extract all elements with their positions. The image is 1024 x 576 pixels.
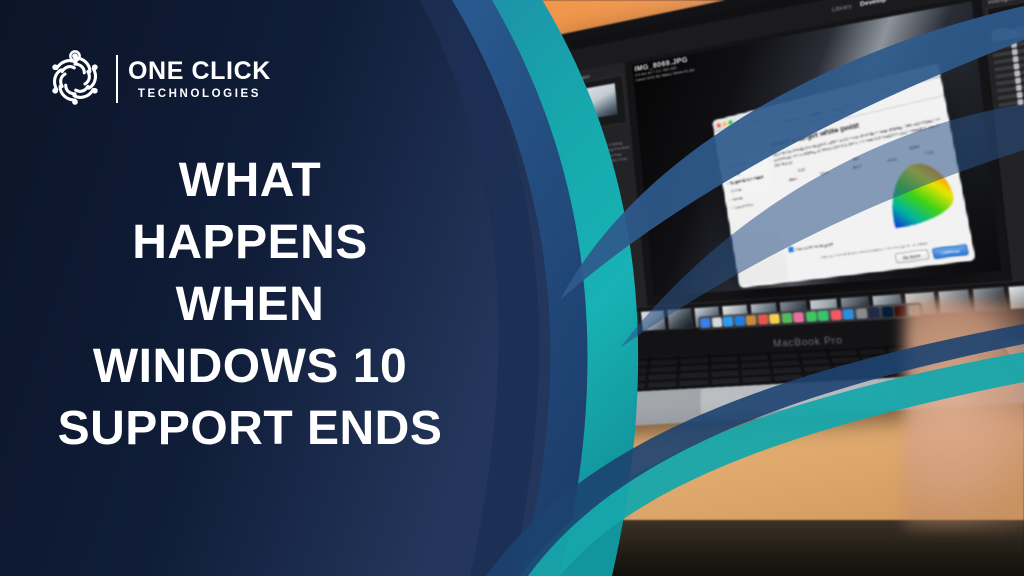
brand-name: ONE CLICK	[128, 58, 271, 84]
headline-line-5: SUPPORT ENDS	[50, 398, 450, 460]
headline-line-2: HAPPENS	[50, 212, 450, 274]
brand-lockup: ONE CLICK TECHNOLOGIES	[44, 48, 271, 110]
brand-text-block: ONE CLICK TECHNOLOGIES	[128, 58, 271, 99]
brand-divider-rule	[116, 55, 118, 103]
page-title: WHAT HAPPENS WHEN WINDOWS 10 SUPPORT END…	[50, 150, 450, 460]
headline-line-3: WHEN	[50, 274, 450, 336]
headline-line-4: WINDOWS 10	[50, 336, 450, 398]
hexagon-circuit-nodes-icon	[44, 48, 106, 110]
diagonal-blue-sweep-secondary	[620, 104, 1024, 348]
marketing-banner: ◧ ⌁ ⏱ ⚙ ⌨ ☁ ▣ ⏻ Library Develop Map Book…	[0, 0, 1024, 576]
headline-line-1: WHAT	[50, 150, 450, 212]
brand-subtitle: TECHNOLOGIES	[128, 88, 271, 100]
